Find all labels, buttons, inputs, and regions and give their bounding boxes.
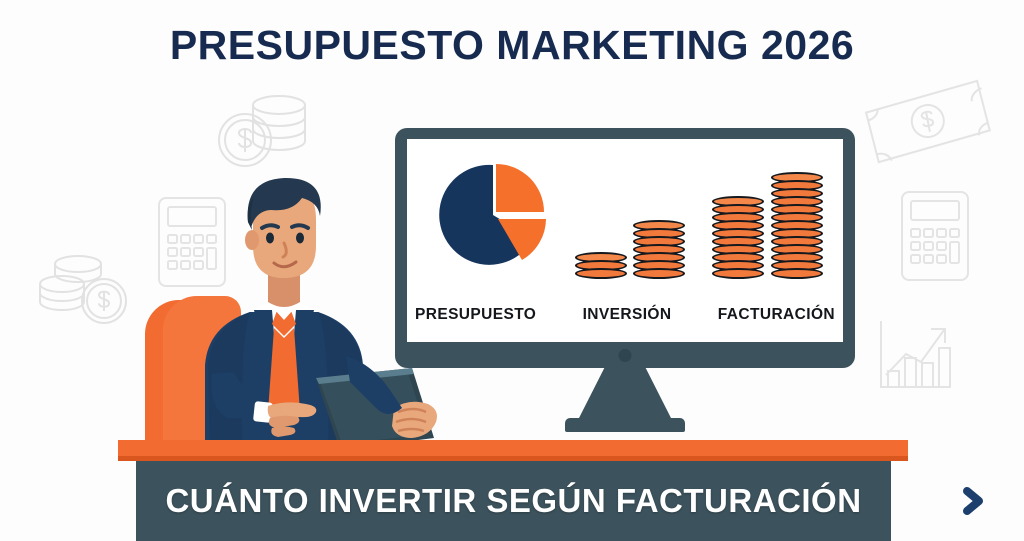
coin-stack-dollar-icon [38,253,134,327]
screen-labels-row: PRESUPUESTO INVERSIÓN FACTURACIÓN [407,306,843,324]
page-title: PRESUPUESTO MARKETING 2026 [0,22,1024,69]
coin-stacks-group [575,149,837,279]
coin [633,268,685,279]
coin-stack-facturacion-2 [771,175,823,279]
banknote-dollar-icon [861,77,996,167]
bottom-banner-text: CUÁNTO INVERTIR SEGÚN FACTURACIÓN [136,461,891,541]
coin-stack-inversion-2 [633,223,685,279]
monitor-stand-base [565,418,685,432]
coin-stack-inversion-1 [575,255,627,279]
pie-chart [427,157,572,277]
screen-label-facturacion: FACTURACIÓN [718,306,835,324]
growth-bar-chart-icon [876,318,954,392]
coin [712,268,764,279]
screen-label-inversion: INVERSIÓN [583,306,672,324]
monitor-power-dot [619,349,632,362]
chevron-right-icon[interactable] [958,486,988,516]
coin [575,268,627,279]
monitor-stand-neck [578,368,672,420]
screen-label-presupuesto: PRESUPUESTO [415,306,536,324]
poster-canvas: PRESUPUESTO MARKETING 2026 [0,0,1024,541]
coin-stack-facturacion-1 [712,199,764,279]
calculator-icon [900,190,970,282]
coin [771,268,823,279]
